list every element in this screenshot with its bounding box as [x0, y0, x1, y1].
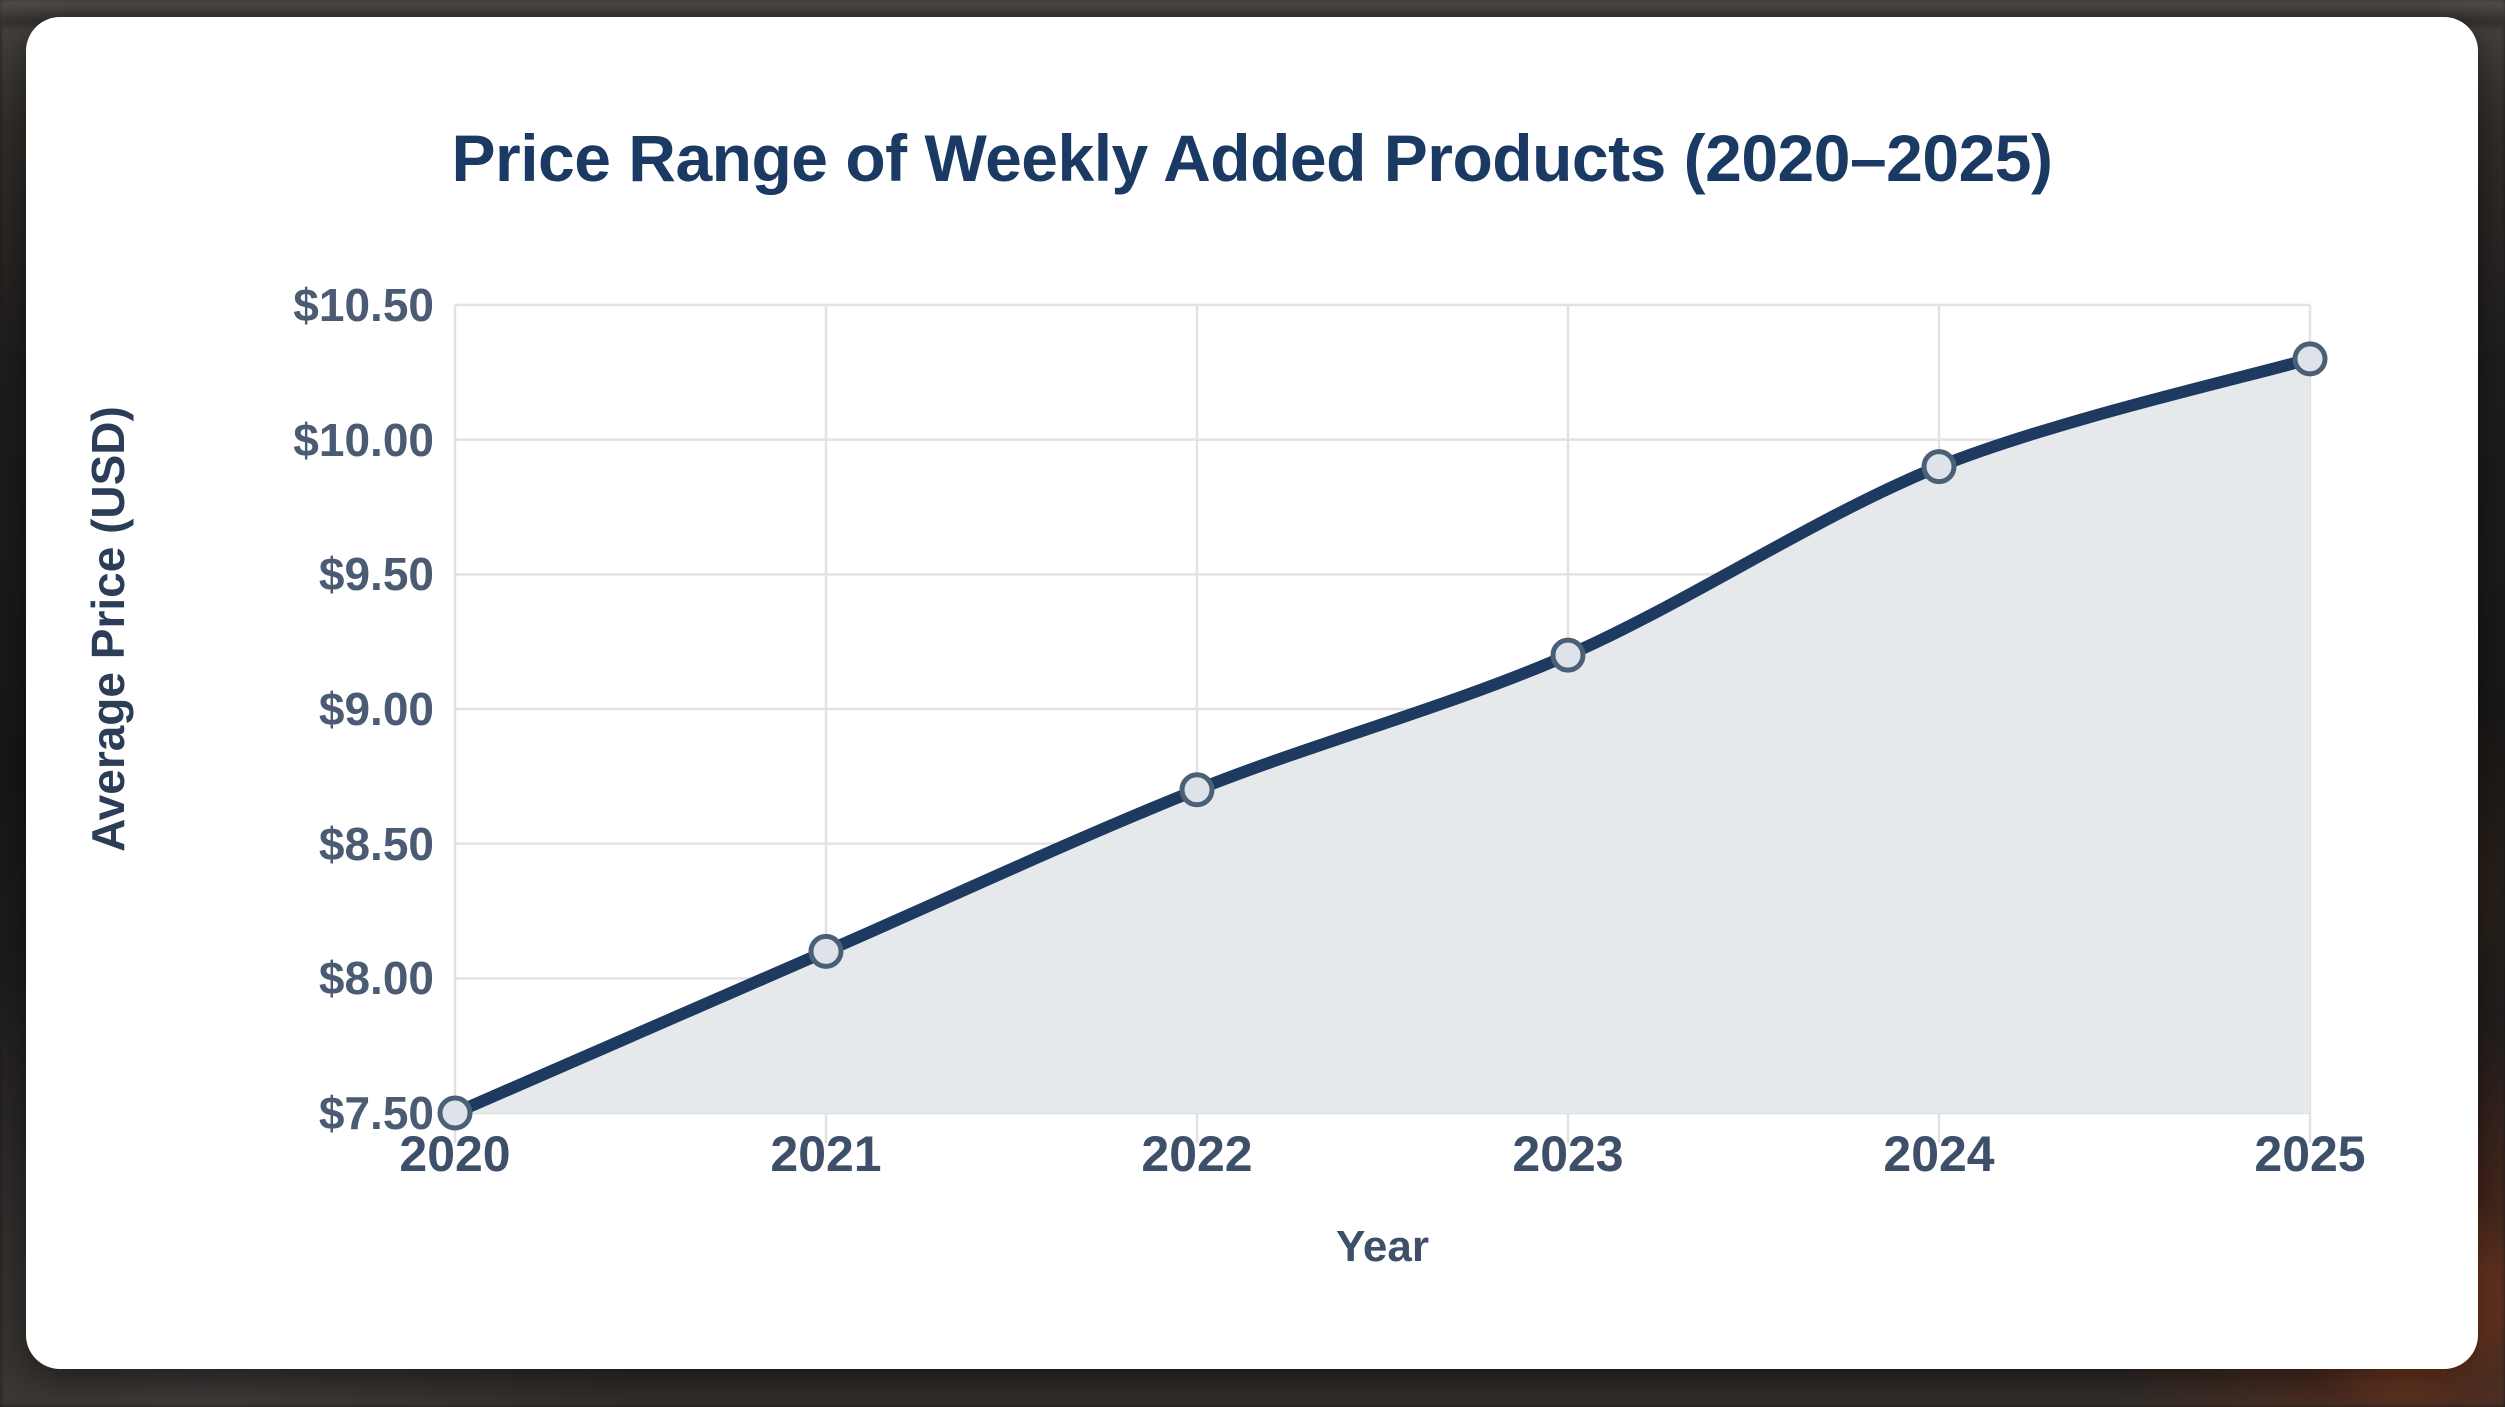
screenshot-root: Price Range of Weekly Added Products (20…	[0, 0, 2505, 1407]
area-fill	[455, 359, 2310, 1113]
x-axis-tick-label: 2021	[770, 1125, 881, 1183]
data-point-circle[interactable]	[1553, 640, 1583, 670]
y-axis-tick-label: $10.00	[293, 413, 434, 467]
data-point-marker[interactable]: 2024: $9.90	[1924, 452, 1954, 482]
data-point-circle[interactable]	[811, 936, 841, 966]
x-axis-tick-label: 2024	[1883, 1125, 1994, 1183]
x-axis-tick-label: 2022	[1141, 1125, 1252, 1183]
x-axis-tick-label: 2025	[2254, 1125, 2365, 1183]
chart-title: Price Range of Weekly Added Products (20…	[26, 125, 2478, 191]
data-point-marker[interactable]: 2022: $8.70	[1182, 775, 1212, 805]
y-axis-tick-label: $10.50	[293, 278, 434, 332]
y-axis-tick-label: $9.50	[319, 547, 434, 601]
data-point-circle[interactable]	[2295, 344, 2325, 374]
data-point-marker[interactable]: 2023: $9.20	[1553, 640, 1583, 670]
plot-area: 2020: $7.502021: $8.102022: $8.702023: $…	[455, 305, 2310, 1113]
data-point-circle[interactable]	[440, 1098, 470, 1128]
data-point-circle[interactable]	[1924, 452, 1954, 482]
data-point-marker[interactable]: 2021: $8.10	[811, 936, 841, 966]
x-axis-title: Year	[455, 1222, 2310, 1272]
y-axis-tick-label: $9.00	[319, 682, 434, 736]
y-axis-title: Average Price (USD)	[81, 279, 135, 979]
chart-canvas: 2020: $7.502021: $8.102022: $8.702023: $…	[455, 305, 2310, 1113]
y-axis-title-holder: Average Price (USD)	[26, 17, 27, 18]
x-axis-tick-label: 2020	[399, 1125, 510, 1183]
y-axis-tick-label: $8.50	[319, 817, 434, 871]
data-point-circle[interactable]	[1182, 775, 1212, 805]
data-point-marker[interactable]: 2025: $10.30	[2295, 344, 2325, 374]
y-axis-tick-label: $8.00	[319, 951, 434, 1005]
x-axis-tick-label: 2023	[1512, 1125, 1623, 1183]
x-axis-tick-labels: 202020212022202320242025	[455, 1125, 2310, 1195]
y-axis-tick-labels: $10.50$10.00$9.50$9.00$8.50$8.00$7.50	[176, 305, 434, 1113]
chart-card: Price Range of Weekly Added Products (20…	[26, 17, 2478, 1369]
data-point-marker[interactable]: 2020: $7.50	[440, 1098, 470, 1128]
